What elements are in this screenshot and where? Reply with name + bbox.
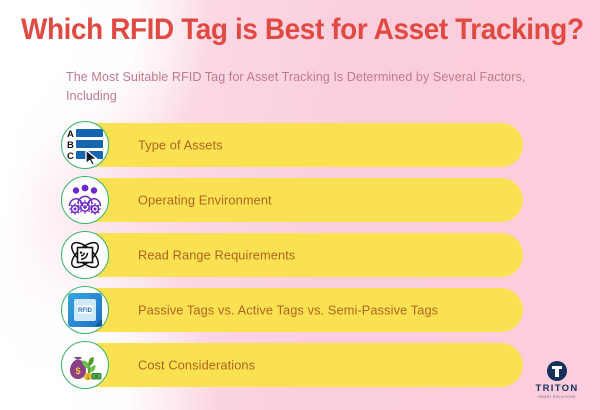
svg-text:B: B [67,140,74,151]
brand-name: TRITON [528,383,586,394]
money-bag-plant-icon: $ $ [61,341,109,389]
list-item-label: Passive Tags vs. Active Tags vs. Semi-Pa… [138,303,438,318]
brand-tagline: SMART SOLUTIONS [528,394,586,400]
list-item-label: Type of Assets [138,138,223,153]
list-item[interactable]: A B C Type of Assets [85,123,523,167]
brand-logo: TRITON SMART SOLUTIONS [528,361,586,400]
infographic-canvas: Which RFID Tag is Best for Asset Trackin… [0,0,600,410]
list-item-label: Operating Environment [138,193,272,208]
triton-mark-icon [547,361,567,381]
people-gears-icon [61,176,109,224]
list-item-label: Read Range Requirements [138,248,295,263]
rfid-signal-chip-icon [61,231,109,279]
list-item[interactable]: Read Range Requirements [85,233,523,277]
list-item-label: Cost Considerations [138,358,255,373]
page-title: Which RFID Tag is Best for Asset Trackin… [21,13,579,47]
svg-text:$: $ [87,375,90,381]
svg-text:C: C [67,151,74,162]
rfid-tag-card-icon: RFID [61,286,109,334]
svg-text:$: $ [75,366,80,376]
list-item[interactable]: Operating Environment [85,178,523,222]
list-item[interactable]: RFID Passive Tags vs. Active Tags vs. Se… [85,288,523,332]
list-item[interactable]: $ $ Cost Considerations [85,343,523,387]
page-subtitle: The Most Suitable RFID Tag for Asset Tra… [66,68,536,106]
svg-text:A: A [67,129,74,140]
svg-text:RFID: RFID [78,308,93,314]
multiple-choice-list-icon: A B C [61,121,109,169]
